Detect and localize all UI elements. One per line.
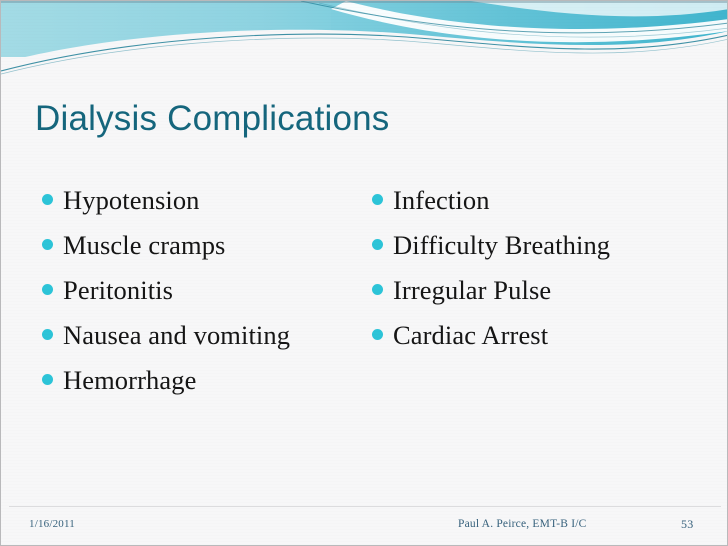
list-item-label: Nausea and vomiting — [63, 320, 290, 350]
bullet-dot-icon — [372, 284, 383, 295]
footer-divider — [9, 506, 721, 507]
bullet-dot-icon — [372, 329, 383, 340]
list-item-label: Difficulty Breathing — [393, 230, 610, 260]
bullet-dot-icon — [42, 284, 53, 295]
bullet-dot-icon — [42, 239, 53, 250]
wave-graphic — [1, 1, 728, 87]
list-item-label: Peritonitis — [63, 275, 173, 305]
footer-date: 1/16/2011 — [29, 517, 75, 531]
list-item: Hypotension — [39, 183, 339, 217]
list-item-label: Irregular Pulse — [393, 275, 551, 305]
list-item: Peritonitis — [39, 273, 339, 307]
list-item: Nausea and vomiting — [39, 318, 339, 352]
bullet-list-left: Hypotension Muscle cramps Peritonitis Na… — [39, 183, 339, 397]
list-item: Infection — [369, 183, 685, 217]
list-item-label: Hemorrhage — [63, 365, 196, 395]
list-item: Cardiac Arrest — [369, 318, 685, 352]
list-item: Hemorrhage — [39, 363, 339, 397]
bullet-column-right: Infection Difficulty Breathing Irregular… — [369, 183, 685, 363]
footer-author: Paul A. Peirce, EMT-B I/C — [458, 517, 587, 531]
list-item: Muscle cramps — [39, 228, 339, 262]
slide-number: 53 — [681, 517, 693, 531]
bullet-column-left: Hypotension Muscle cramps Peritonitis Na… — [39, 183, 339, 408]
header-wave-banner — [1, 1, 728, 87]
list-item: Irregular Pulse — [369, 273, 685, 307]
bullet-dot-icon — [42, 374, 53, 385]
list-item-label: Hypotension — [63, 185, 200, 215]
list-item: Difficulty Breathing — [369, 228, 685, 262]
bullet-list-right: Infection Difficulty Breathing Irregular… — [369, 183, 685, 352]
list-item-label: Cardiac Arrest — [393, 320, 548, 350]
page-title: Dialysis Complications — [35, 97, 675, 145]
bullet-dot-icon — [372, 194, 383, 205]
bullet-dot-icon — [42, 329, 53, 340]
presentation-slide: Dialysis Complications Hypotension Muscl… — [0, 0, 728, 546]
bullet-dot-icon — [42, 194, 53, 205]
bullet-dot-icon — [372, 239, 383, 250]
list-item-label: Infection — [393, 185, 490, 215]
list-item-label: Muscle cramps — [63, 230, 225, 260]
